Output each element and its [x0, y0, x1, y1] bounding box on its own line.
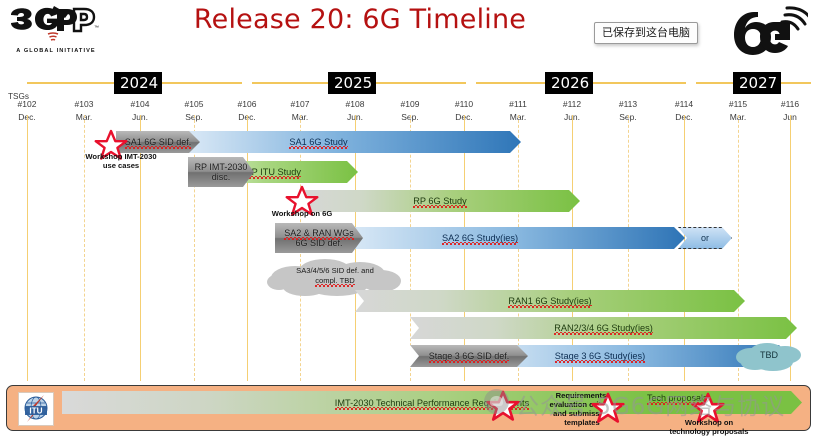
cloud-label-line-2: compl. TBD [315, 276, 355, 285]
axis-line-seg-8 [781, 82, 811, 84]
marker-workshop-tech-proposals-label: Workshop on technology proposals [648, 418, 770, 436]
bar-label: SA2 6G Study(ies) [442, 233, 518, 243]
bar-ran234-6g-study[interactable]: RAN2/3/4 6G Study(ies) [410, 317, 797, 339]
bar-ran1-6g-study[interactable]: RAN1 6G Study(ies) [355, 290, 745, 312]
marker-requirements[interactable] [486, 390, 520, 427]
bar-label: Stage 3 6G Study(ies) [555, 351, 645, 361]
svg-text:ITU: ITU [29, 407, 42, 416]
gridline-solid [247, 115, 248, 381]
tick-num: #114 [662, 99, 706, 110]
bar-stage3-6g-sid-def[interactable]: Stage 3 6G SID def. [410, 345, 528, 367]
marker-submission[interactable] [591, 392, 625, 429]
tick-num: #108 [333, 99, 377, 110]
tick-num: #109 [388, 99, 432, 110]
tick-num: #102 [5, 99, 49, 110]
axis-line-seg-3 [252, 82, 328, 84]
tick-num: #106 [225, 99, 269, 110]
bar-label-line-1: RP IMT-2030 [195, 162, 248, 172]
tick-num: #115 [716, 99, 760, 110]
bar-label-line-1: SA2 & RAN WGs [284, 228, 354, 238]
or-label: or [701, 233, 709, 243]
cloud-tbd[interactable]: TBD [733, 340, 805, 372]
bar-label: RAN1 6G Study(ies) [508, 296, 591, 306]
tick-num: #116 [768, 99, 812, 110]
bar-sa1-6g-sid-def[interactable]: SA1 6G SID def. [116, 131, 200, 153]
tick-num: #113 [606, 99, 650, 110]
timeline-canvas: ™ A GLOBAL INITIATIVE Release 20: 6G Tim… [0, 0, 817, 435]
star-icon [486, 390, 520, 422]
bar-label: Stage 3 6G SID def. [429, 351, 510, 361]
cloud-label: TBD [760, 350, 778, 360]
svg-text:™: ™ [94, 25, 99, 31]
bar-label: RAN2/3/4 6G Study(ies) [554, 323, 653, 333]
axis-line-seg-2 [162, 82, 242, 84]
axis-line-seg-7 [696, 82, 733, 84]
tick-num: #112 [550, 99, 594, 110]
year-box-2026: 2026 [545, 72, 593, 94]
cloud-label-line-1: SA3/4/5/6 SID def. and [296, 266, 374, 275]
saved-to-computer-button[interactable]: 已保存到这台电脑 [594, 22, 698, 44]
tick-num: #110 [442, 99, 486, 110]
gridline-dashed [194, 115, 195, 381]
year-box-2024: 2024 [114, 72, 162, 94]
marker-workshop-imt2030-label: Workshop IMT-2030 use cases [66, 152, 176, 170]
label-line-1: Workshop on [648, 418, 770, 427]
axis-line-seg-4 [376, 82, 466, 84]
label-line-1: Workshop IMT-2030 [66, 152, 176, 161]
gridline-solid [27, 115, 28, 381]
tick-num: #103 [62, 99, 106, 110]
bar-rp-imt2030-disc[interactable]: RP IMT-2030 disc. [188, 157, 254, 187]
bar-label: SA1 6G Study [289, 137, 347, 147]
axis-line-seg-1 [27, 82, 115, 84]
bar-label: SA1 6G SID def. [125, 137, 192, 147]
tick-num: #111 [496, 99, 540, 110]
star-icon [591, 392, 625, 424]
bar-sa2-or-option[interactable]: or [678, 227, 732, 249]
tick-num: #104 [118, 99, 162, 110]
tick-num: #105 [172, 99, 216, 110]
bar-sa2-ran-wgs-6g-sid-def[interactable]: SA2 & RAN WGs 6G SID def. [275, 223, 363, 253]
year-box-2027: 2027 [733, 72, 781, 94]
3gpp-logo: ™ A GLOBAL INITIATIVE [8, 6, 102, 58]
itu-logo: ITU [18, 392, 54, 426]
axis-line-seg-5 [476, 82, 545, 84]
6g-logo [724, 6, 808, 58]
3gpp-tagline: A GLOBAL INITIATIVE [10, 48, 102, 54]
axis-line-seg-6 [593, 82, 686, 84]
bar-label-line-2: disc. [212, 172, 231, 182]
marker-workshop-6g-label: Workshop on 6G [252, 209, 352, 218]
page-title: Release 20: 6G Timeline [150, 4, 570, 35]
bar-label: RP 6G Study [413, 196, 466, 206]
label-line-2: use cases [66, 161, 176, 170]
tick-num: #107 [278, 99, 322, 110]
year-box-2025: 2025 [328, 72, 376, 94]
